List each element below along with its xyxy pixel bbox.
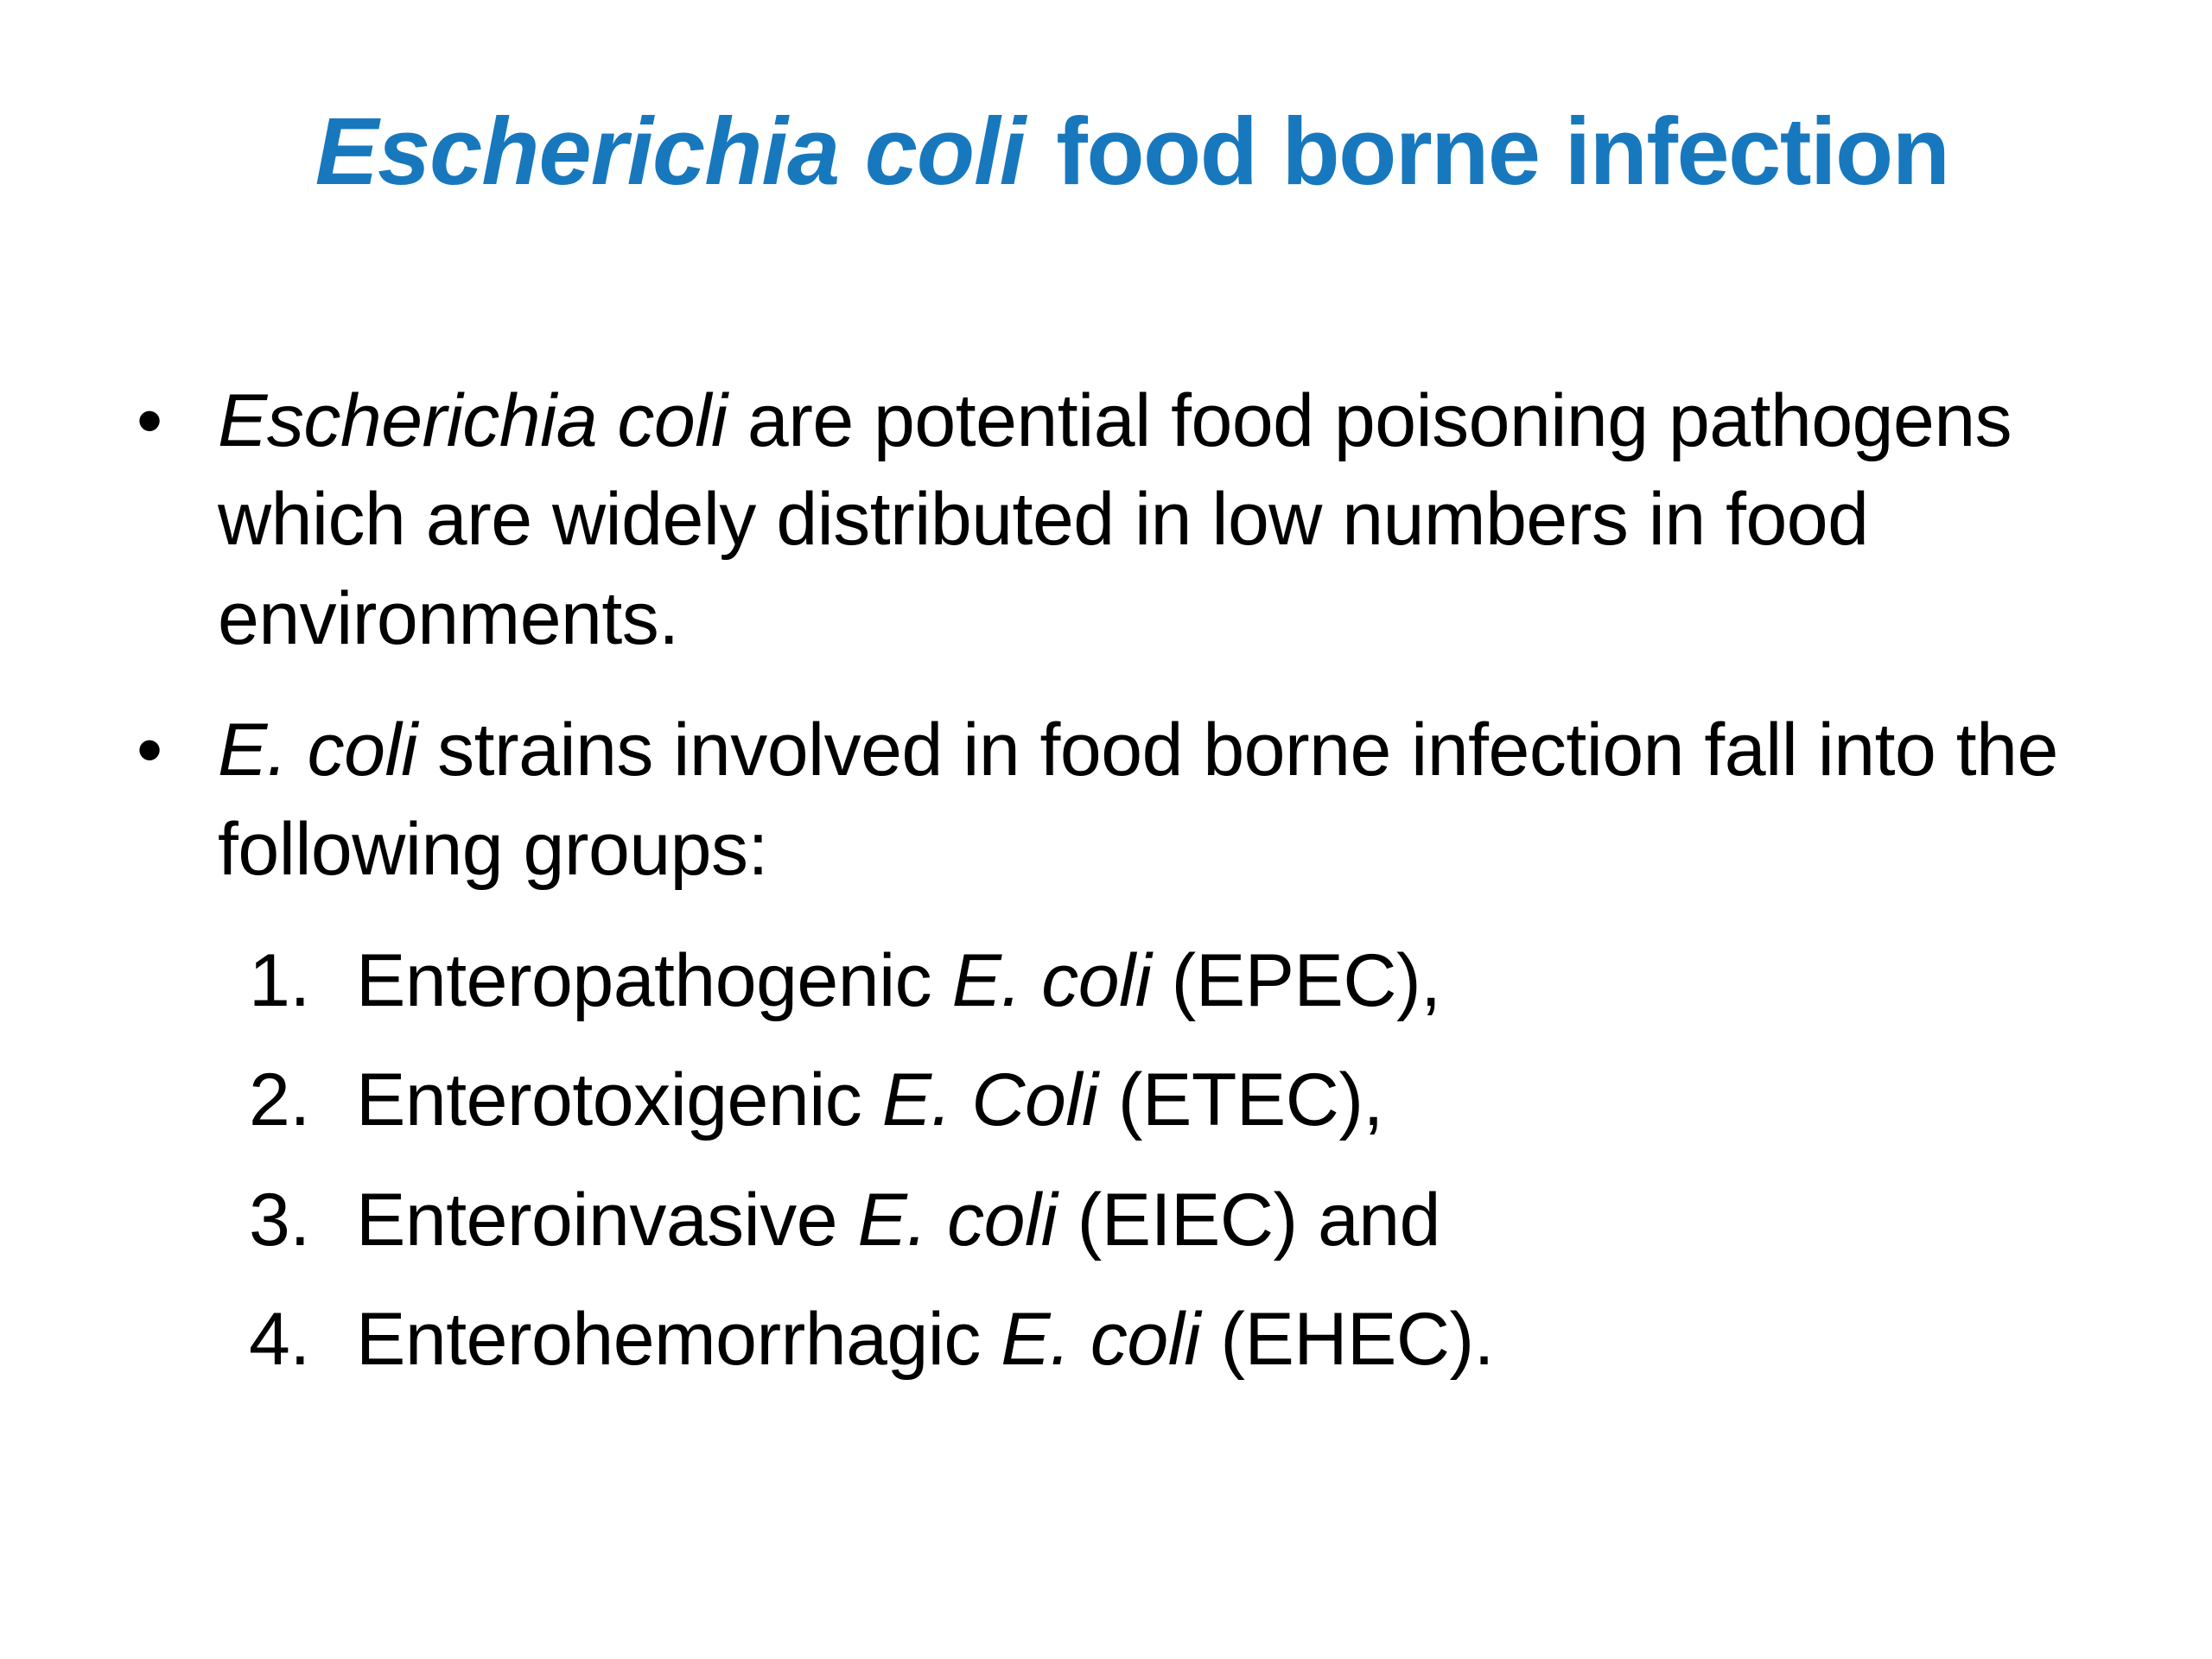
bullet-text: E. coli strains involved in food borne i… <box>218 709 2058 890</box>
item-text-before: Enteroinvasive <box>356 1179 857 1262</box>
scientific-name: E. coli <box>1001 1298 1200 1381</box>
list-item: • E. coli strains involved in food borne… <box>0 701 2212 899</box>
numbered-list: 1.Enteropathogenic E. coli (EPEC), 2.Ent… <box>0 931 2212 1389</box>
bullet-icon: • <box>137 372 171 470</box>
item-text-before: Enterohemorrhagic <box>356 1298 1001 1381</box>
bullet-text: Escherichia coli are potential food pois… <box>218 379 2012 660</box>
list-number: 3. <box>249 1171 335 1269</box>
list-number: 1. <box>249 931 335 1030</box>
item-text-after: (EIEC) and <box>1057 1179 1440 1262</box>
numbered-list-item: 4.Enterohemorrhagic E. coli (EHEC). <box>0 1290 2212 1389</box>
list-number: 2. <box>249 1051 335 1149</box>
presentation-slide: Escherichia colifood borne infection • E… <box>0 0 2212 1659</box>
scientific-name: E. coli <box>952 939 1152 1022</box>
item-text-after: (EPEC), <box>1151 939 1440 1022</box>
bullet-body-text: strains involved in food borne infection… <box>218 709 2058 890</box>
scientific-name: E. Coli <box>882 1058 1098 1141</box>
numbered-list-item: 1.Enteropathogenic E. coli (EPEC), <box>0 931 2212 1030</box>
page-title: Escherichia colifood borne infection <box>315 102 1949 203</box>
item-text-before: Enterotoxigenic <box>356 1058 882 1141</box>
scientific-name: E. coli <box>218 709 417 791</box>
numbered-list-item: 2.Enterotoxigenic E. Coli (ETEC), <box>0 1051 2212 1149</box>
numbered-list-item: 3.Enteroinvasive E. coli (EIEC) and <box>0 1171 2212 1269</box>
list-item: • Escherichia coli are potential food po… <box>0 372 2212 668</box>
bullet-icon: • <box>137 701 171 799</box>
item-text-after: (ETEC), <box>1098 1058 1383 1141</box>
slide-body: • Escherichia coli are potential food po… <box>0 372 2212 1409</box>
scientific-name: Escherichia coli <box>218 379 727 462</box>
title-rest: food borne infection <box>1056 99 1948 205</box>
scientific-name: E. coli <box>857 1179 1057 1262</box>
title-scientific-name: Escherichia coli <box>315 99 1026 205</box>
item-text-after: (EHEC). <box>1200 1298 1494 1381</box>
slide-title-block: Escherichia colifood borne infection <box>156 102 2108 203</box>
list-number: 4. <box>249 1290 335 1389</box>
item-text-before: Enteropathogenic <box>356 939 952 1022</box>
